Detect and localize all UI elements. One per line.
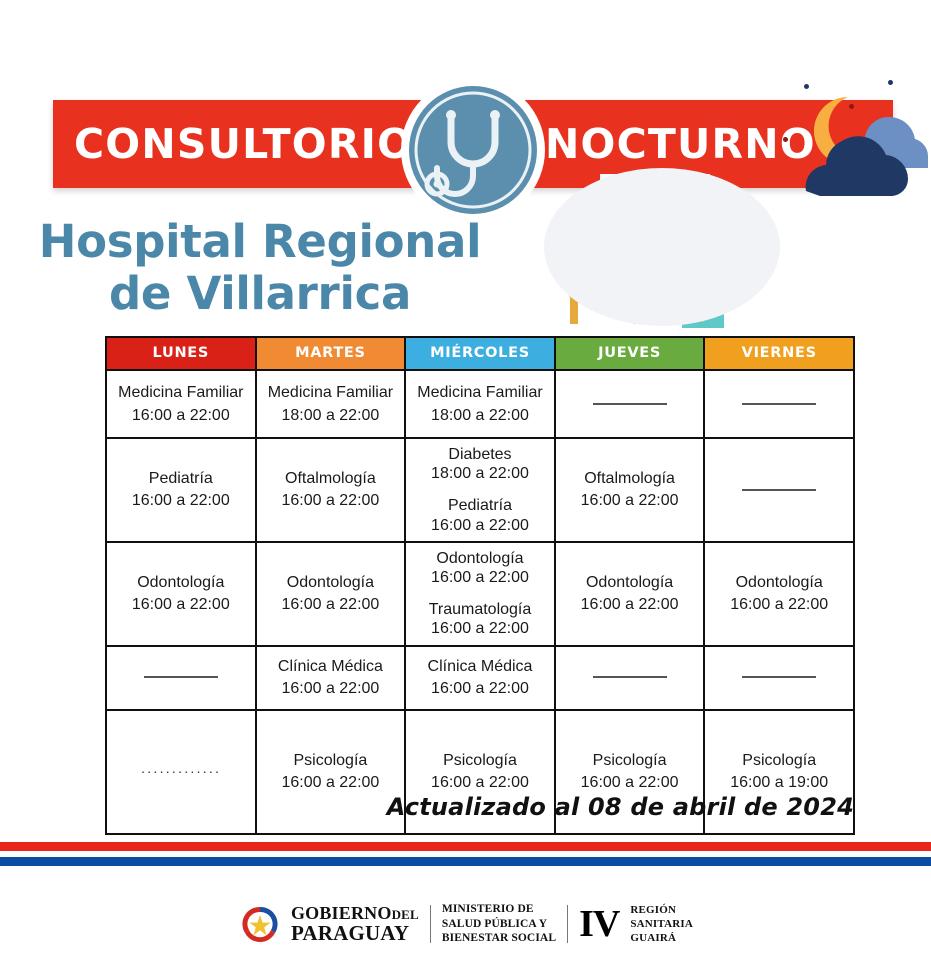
table-row: Clínica Médica16:00 a 22:00Clínica Médic… bbox=[106, 646, 854, 710]
service-name: Pediatría bbox=[111, 469, 251, 488]
table-row: Medicina Familiar16:00 a 22:00Medicina F… bbox=[106, 370, 854, 438]
schedule-cell: Clínica Médica16:00 a 22:00 bbox=[405, 646, 555, 710]
stethoscope-badge bbox=[401, 78, 545, 222]
title-line-2: de Villarrica bbox=[0, 268, 520, 320]
service-name: Psicología bbox=[709, 751, 849, 770]
service-entry: Psicología16:00 a 19:00 bbox=[709, 751, 849, 792]
column-header-jueves: JUEVES bbox=[555, 337, 705, 370]
last-updated-text: Actualizado al 08 de abril de 2024 bbox=[387, 793, 854, 821]
service-entry: Odontología16:00 a 22:00 bbox=[709, 573, 849, 614]
empty-dash-icon bbox=[742, 676, 816, 678]
schedule-cell: Clínica Médica16:00 a 22:00 bbox=[256, 646, 406, 710]
schedule-cell: Odontología16:00 a 22:00Traumatología16:… bbox=[405, 542, 555, 646]
service-hours: 18:00 a 22:00 bbox=[261, 406, 401, 425]
service-entry: Psicología16:00 a 22:00 bbox=[560, 751, 700, 792]
service-hours: 16:00 a 22:00 bbox=[709, 595, 849, 614]
service-hours: 16:00 a 22:00 bbox=[410, 773, 550, 792]
service-hours: 18:00 a 22:00 bbox=[410, 464, 550, 483]
service-entry: Odontología16:00 a 22:00 bbox=[560, 573, 700, 614]
service-entry: Psicología16:00 a 22:00 bbox=[410, 751, 550, 792]
service-entry: Clínica Médica16:00 a 22:00 bbox=[261, 657, 401, 698]
service-entry: Medicina Familiar18:00 a 22:00 bbox=[410, 383, 550, 424]
banner-word-consultorio: CONSULTORIO bbox=[74, 116, 413, 172]
region-line-3: GUAIRÁ bbox=[630, 931, 693, 945]
service-hours: 16:00 a 22:00 bbox=[410, 679, 550, 698]
schedule-cell bbox=[704, 438, 854, 542]
star-dot bbox=[783, 137, 788, 142]
gobierno-word: GOBIERNO bbox=[291, 903, 392, 923]
paraguay-seal-icon bbox=[238, 902, 282, 946]
schedule-table-wrapper: LUNESMARTESMIÉRCOLESJUEVESVIERNES Medici… bbox=[105, 336, 855, 835]
service-entry: Medicina Familiar18:00 a 22:00 bbox=[261, 383, 401, 424]
service-hours: 16:00 a 22:00 bbox=[261, 679, 401, 698]
service-hours: 16:00 a 22:00 bbox=[410, 568, 550, 587]
cell-content: Medicina Familiar16:00 a 22:00 bbox=[111, 383, 251, 424]
service-name: Odontología bbox=[410, 549, 550, 568]
service-entry: Odontología16:00 a 22:00 bbox=[111, 573, 251, 614]
cell-content: Psicología16:00 a 22:00 bbox=[261, 751, 401, 792]
schedule-cell bbox=[704, 370, 854, 438]
service-hours: 16:00 a 22:00 bbox=[560, 491, 700, 510]
service-hours: 18:00 a 22:00 bbox=[410, 406, 550, 425]
gobierno-paraguay-logo: GOBIERNODEL PARAGUAY bbox=[238, 902, 419, 946]
service-entry: Medicina Familiar16:00 a 22:00 bbox=[111, 383, 251, 424]
service-name: Oftalmología bbox=[560, 469, 700, 488]
empty-dots-placeholder: ············· bbox=[141, 763, 221, 779]
stethoscope-icon bbox=[409, 86, 537, 214]
service-hours: 16:00 a 22:00 bbox=[111, 595, 251, 614]
doctor-patient-illustration bbox=[530, 160, 780, 330]
cell-content: Oftalmología16:00 a 22:00 bbox=[261, 469, 401, 510]
service-name: Medicina Familiar bbox=[410, 383, 550, 402]
service-name: Clínica Médica bbox=[261, 657, 401, 676]
region-line-1: REGIÓN bbox=[630, 903, 693, 917]
column-header-mircoles: MIÉRCOLES bbox=[405, 337, 555, 370]
service-entry: Oftalmología16:00 a 22:00 bbox=[261, 469, 401, 510]
empty-dash-icon bbox=[144, 676, 218, 678]
flag-stripe-blue bbox=[0, 857, 931, 866]
service-hours: 16:00 a 22:00 bbox=[111, 491, 251, 510]
service-name: Medicina Familiar bbox=[111, 383, 251, 402]
del-word: DEL bbox=[392, 907, 419, 922]
service-name: Odontología bbox=[261, 573, 401, 592]
table-header-row: LUNESMARTESMIÉRCOLESJUEVESVIERNES bbox=[106, 337, 854, 370]
ministerio-line-3: BIENESTAR SOCIAL bbox=[442, 931, 556, 946]
service-hours: 16:00 a 19:00 bbox=[709, 773, 849, 792]
cell-content: Medicina Familiar18:00 a 22:00 bbox=[261, 383, 401, 424]
schedule-cell: Pediatría16:00 a 22:00 bbox=[106, 438, 256, 542]
poster-canvas: CONSULTORIO NOCTURNO bbox=[0, 0, 931, 960]
region-numeral: IV bbox=[579, 905, 619, 943]
schedule-cell: Odontología16:00 a 22:00 bbox=[555, 542, 705, 646]
service-name: Oftalmología bbox=[261, 469, 401, 488]
schedule-table: LUNESMARTESMIÉRCOLESJUEVESVIERNES Medici… bbox=[105, 336, 855, 835]
service-name: Odontología bbox=[111, 573, 251, 592]
schedule-cell: Oftalmología16:00 a 22:00 bbox=[256, 438, 406, 542]
cell-content: Clínica Médica16:00 a 22:00 bbox=[261, 657, 401, 698]
star-dot bbox=[888, 80, 893, 85]
service-entry: Clínica Médica16:00 a 22:00 bbox=[410, 657, 550, 698]
empty-dash-icon bbox=[593, 403, 667, 405]
region-line-2: SANITARIA bbox=[630, 917, 693, 931]
service-entry: Pediatría16:00 a 22:00 bbox=[410, 496, 550, 534]
table-row: Pediatría16:00 a 22:00Oftalmología16:00 … bbox=[106, 438, 854, 542]
schedule-cell bbox=[106, 646, 256, 710]
logo-divider bbox=[430, 905, 431, 943]
cell-content: Odontología16:00 a 22:00 bbox=[111, 573, 251, 614]
ministerio-line-1: MINISTERIO DE bbox=[442, 902, 556, 917]
footer-logos: GOBIERNODEL PARAGUAY MINISTERIO DE SALUD… bbox=[0, 888, 931, 960]
schedule-cell bbox=[555, 370, 705, 438]
cell-content: Clínica Médica16:00 a 22:00 bbox=[410, 657, 550, 698]
cell-content: Oftalmología16:00 a 22:00 bbox=[560, 469, 700, 510]
table-row: Odontología16:00 a 22:00Odontología16:00… bbox=[106, 542, 854, 646]
cell-content: Odontología16:00 a 22:00 bbox=[560, 573, 700, 614]
title-line-1: Hospital Regional bbox=[39, 215, 481, 268]
cell-content: Psicología16:00 a 22:00 bbox=[560, 751, 700, 792]
service-entry: Oftalmología16:00 a 22:00 bbox=[560, 469, 700, 510]
column-header-martes: MARTES bbox=[256, 337, 406, 370]
service-name: Traumatología bbox=[410, 600, 550, 619]
cell-content: Odontología16:00 a 22:00 bbox=[709, 573, 849, 614]
service-name: Odontología bbox=[709, 573, 849, 592]
column-header-lunes: LUNES bbox=[106, 337, 256, 370]
cell-content: Psicología16:00 a 19:00 bbox=[709, 751, 849, 792]
ministerio-line-2: SALUD PÚBLICA Y bbox=[442, 917, 556, 932]
service-hours: 16:00 a 22:00 bbox=[410, 619, 550, 638]
schedule-cell: Oftalmología16:00 a 22:00 bbox=[555, 438, 705, 542]
flag-stripe-red bbox=[0, 842, 931, 851]
schedule-cell bbox=[555, 646, 705, 710]
service-entry: Psicología16:00 a 22:00 bbox=[261, 751, 401, 792]
empty-dash-icon bbox=[593, 676, 667, 678]
service-entry: Traumatología16:00 a 22:00 bbox=[410, 600, 550, 638]
service-hours: 16:00 a 22:00 bbox=[261, 491, 401, 510]
schedule-cell: ············· bbox=[106, 710, 256, 834]
schedule-cell: Odontología16:00 a 22:00 bbox=[256, 542, 406, 646]
logo-divider bbox=[567, 905, 568, 943]
service-hours: 16:00 a 22:00 bbox=[261, 595, 401, 614]
schedule-cell: Medicina Familiar18:00 a 22:00 bbox=[405, 370, 555, 438]
star-dot bbox=[804, 84, 809, 89]
service-name: Pediatría bbox=[410, 496, 550, 515]
schedule-cell: Odontología16:00 a 22:00 bbox=[704, 542, 854, 646]
cell-content: Odontología16:00 a 22:00 bbox=[261, 573, 401, 614]
service-name: Medicina Familiar bbox=[261, 383, 401, 402]
schedule-cell: Diabetes18:00 a 22:00Pediatría16:00 a 22… bbox=[405, 438, 555, 542]
moon-cloud-icon bbox=[770, 75, 931, 220]
empty-dash-icon bbox=[742, 403, 816, 405]
service-entry: Diabetes18:00 a 22:00 bbox=[410, 445, 550, 483]
service-entry: Odontología16:00 a 22:00 bbox=[261, 573, 401, 614]
service-entry: Odontología16:00 a 22:00 bbox=[410, 549, 550, 587]
paraguay-word: PARAGUAY bbox=[291, 923, 419, 944]
service-name: Odontología bbox=[560, 573, 700, 592]
schedule-cell: Odontología16:00 a 22:00 bbox=[106, 542, 256, 646]
service-hours: 16:00 a 22:00 bbox=[560, 595, 700, 614]
service-entry: Pediatría16:00 a 22:00 bbox=[111, 469, 251, 510]
schedule-cell: Psicología16:00 a 22:00 bbox=[256, 710, 406, 834]
service-name: Diabetes bbox=[410, 445, 550, 464]
star-dot bbox=[849, 104, 854, 109]
schedule-cell bbox=[704, 646, 854, 710]
empty-dash-icon bbox=[742, 489, 816, 491]
cell-content: Psicología16:00 a 22:00 bbox=[410, 751, 550, 792]
page-title: Hospital Regional de Villarrica bbox=[0, 216, 520, 320]
region-sanitaria-logo: REGIÓN SANITARIA GUAIRÁ bbox=[630, 903, 693, 946]
service-name: Psicología bbox=[410, 751, 550, 770]
service-hours: 16:00 a 22:00 bbox=[560, 773, 700, 792]
schedule-cell: Medicina Familiar16:00 a 22:00 bbox=[106, 370, 256, 438]
night-sky-decoration bbox=[770, 75, 931, 220]
cell-content: Odontología16:00 a 22:00Traumatología16:… bbox=[410, 549, 550, 639]
service-hours: 16:00 a 22:00 bbox=[111, 406, 251, 425]
service-hours: 16:00 a 22:00 bbox=[261, 773, 401, 792]
column-header-viernes: VIERNES bbox=[704, 337, 854, 370]
service-name: Psicología bbox=[261, 751, 401, 770]
schedule-cell: Medicina Familiar18:00 a 22:00 bbox=[256, 370, 406, 438]
ministerio-salud-logo: MINISTERIO DE SALUD PÚBLICA Y BIENESTAR … bbox=[442, 902, 556, 946]
cell-content: Medicina Familiar18:00 a 22:00 bbox=[410, 383, 550, 424]
service-name: Clínica Médica bbox=[410, 657, 550, 676]
cell-content: Diabetes18:00 a 22:00Pediatría16:00 a 22… bbox=[410, 445, 550, 535]
service-hours: 16:00 a 22:00 bbox=[410, 516, 550, 535]
service-name: Psicología bbox=[560, 751, 700, 770]
cell-content: Pediatría16:00 a 22:00 bbox=[111, 469, 251, 510]
